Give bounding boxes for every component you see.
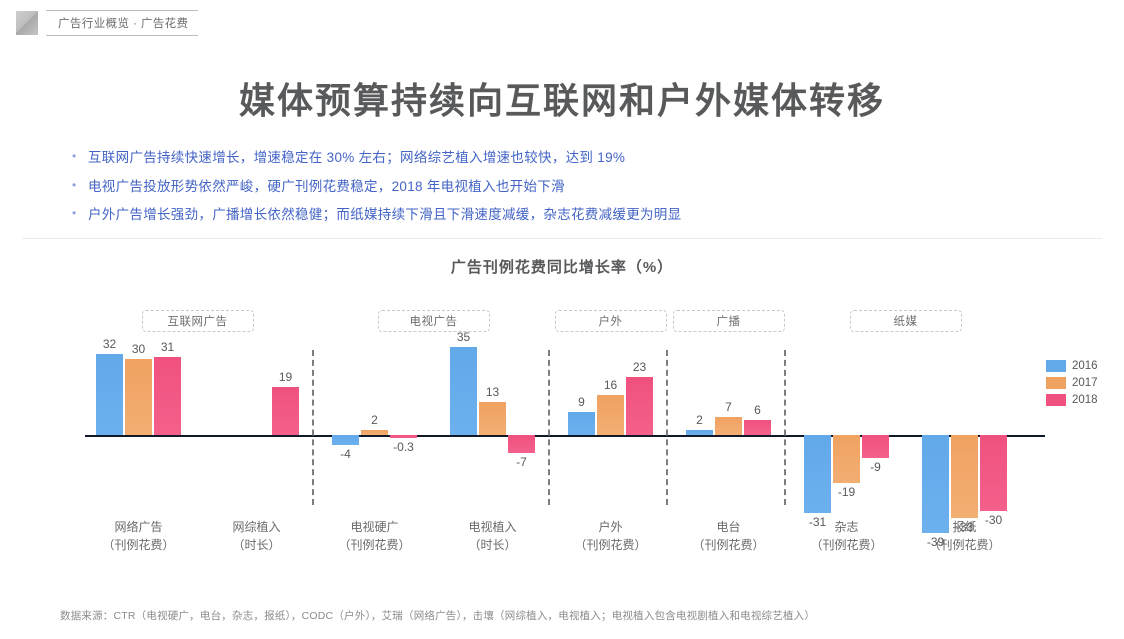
legend-swatch-icon [1046,360,1066,372]
legend-item-2017[interactable]: 2017 [1046,377,1098,389]
bar-value-label: 19 [264,370,307,384]
legend-label: 2018 [1072,394,1098,406]
bar-2016-7 [804,435,831,513]
bar-value-label: -0.3 [382,440,425,454]
bar-2017-5 [597,395,624,435]
bar-2018-4 [508,435,535,453]
legend-swatch-icon [1046,394,1066,406]
legend-item-2018[interactable]: 2018 [1046,394,1098,406]
bar-value-label: -7 [500,455,543,469]
bar-value-label: 2 [353,413,396,427]
cube-icon [16,11,38,35]
bar-2018-3 [390,435,417,438]
bar-2018-5 [626,377,653,435]
group-pill-互联网广告: 互联网广告 [142,310,254,332]
chart-legend: 201620172018 [1046,360,1098,411]
bar-2018-6 [744,420,771,435]
bar-value-label: 13 [471,385,514,399]
bar-value-label: 23 [618,360,661,374]
legend-label: 2016 [1072,360,1098,372]
bullet-text: 互联网广告持续快速增长，增速稳定在 30% 左右；网络综艺植入增速也较快，达到 … [88,148,625,168]
breadcrumb-label: 广告行业概览 · 广告花费 [46,10,198,36]
bar-2018-7 [862,435,889,458]
bar-2017-4 [479,402,506,435]
legend-item-2016[interactable]: 2016 [1046,360,1098,372]
bar-2016-1 [96,354,123,435]
bar-chart: 互联网广告电视广告户外广播纸媒 32303119-42-0.33513-7916… [0,290,1124,590]
legend-label: 2017 [1072,377,1098,389]
group-separator [784,350,786,505]
list-item: • 电视广告投放形势依然严峻，硬广刊例花费稳定，2018 年电视植入也开始下滑 [72,177,1084,197]
bar-2018-8 [980,435,1007,511]
section-divider [22,238,1102,239]
bullet-text: 电视广告投放形势依然严峻，硬广刊例花费稳定，2018 年电视植入也开始下滑 [88,177,565,197]
bar-value-label: 6 [736,403,779,417]
footnote: 数据来源：CTR（电视硬广，电台，杂志，报纸），CODC（户外），艾瑞（网络广告… [60,608,1104,623]
group-pill-纸媒: 纸媒 [850,310,962,332]
category-label-line2: （刊例花费） [890,536,1040,554]
bar-2016-6 [686,430,713,435]
bar-2017-6 [715,417,742,435]
list-item: • 户外广告增长强劲，广播增长依然稳健；而纸媒持续下滑且下滑速度减缓，杂志花费减… [72,205,1084,225]
group-pill-电视广告: 电视广告 [378,310,490,332]
group-pill-户外: 户外 [555,310,667,332]
bar-value-label: -9 [854,460,897,474]
bullet-list: • 互联网广告持续快速增长，增速稳定在 30% 左右；网络综艺植入增速也较快，达… [72,148,1084,234]
bullet-dot-icon: • [72,177,88,194]
bullet-text: 户外广告增长强劲，广播增长依然稳健；而纸媒持续下滑且下滑速度减缓，杂志花费减缓更… [88,205,681,225]
group-separator [548,350,550,505]
bar-2016-3 [332,435,359,445]
category-label: 报纸（刊例花费） [890,518,1040,554]
list-item: • 互联网广告持续快速增长，增速稳定在 30% 左右；网络综艺植入增速也较快，达… [72,148,1084,168]
breadcrumb: 广告行业概览 · 广告花费 [16,10,198,36]
bar-2017-3 [361,430,388,435]
bullet-dot-icon: • [72,205,88,222]
chart-title: 广告刊例花费同比增长率（%） [0,256,1124,277]
bar-value-label: 31 [146,340,189,354]
bar-2018-2 [272,387,299,435]
bar-value-label: -4 [324,447,367,461]
group-separator [666,350,668,505]
bar-2017-8 [951,435,978,518]
category-label-line1: 报纸 [890,518,1040,536]
bar-value-label: 35 [442,330,485,344]
page-title: 媒体预算持续向互联网和户外媒体转移 [0,72,1124,124]
zero-axis-line [85,435,1045,437]
group-pill-广播: 广播 [673,310,785,332]
bar-2017-1 [125,359,152,435]
group-separator [312,350,314,505]
bar-value-label: -19 [825,485,868,499]
bar-2018-1 [154,357,181,435]
bar-2016-5 [568,412,595,435]
legend-swatch-icon [1046,377,1066,389]
bullet-dot-icon: • [72,148,88,165]
